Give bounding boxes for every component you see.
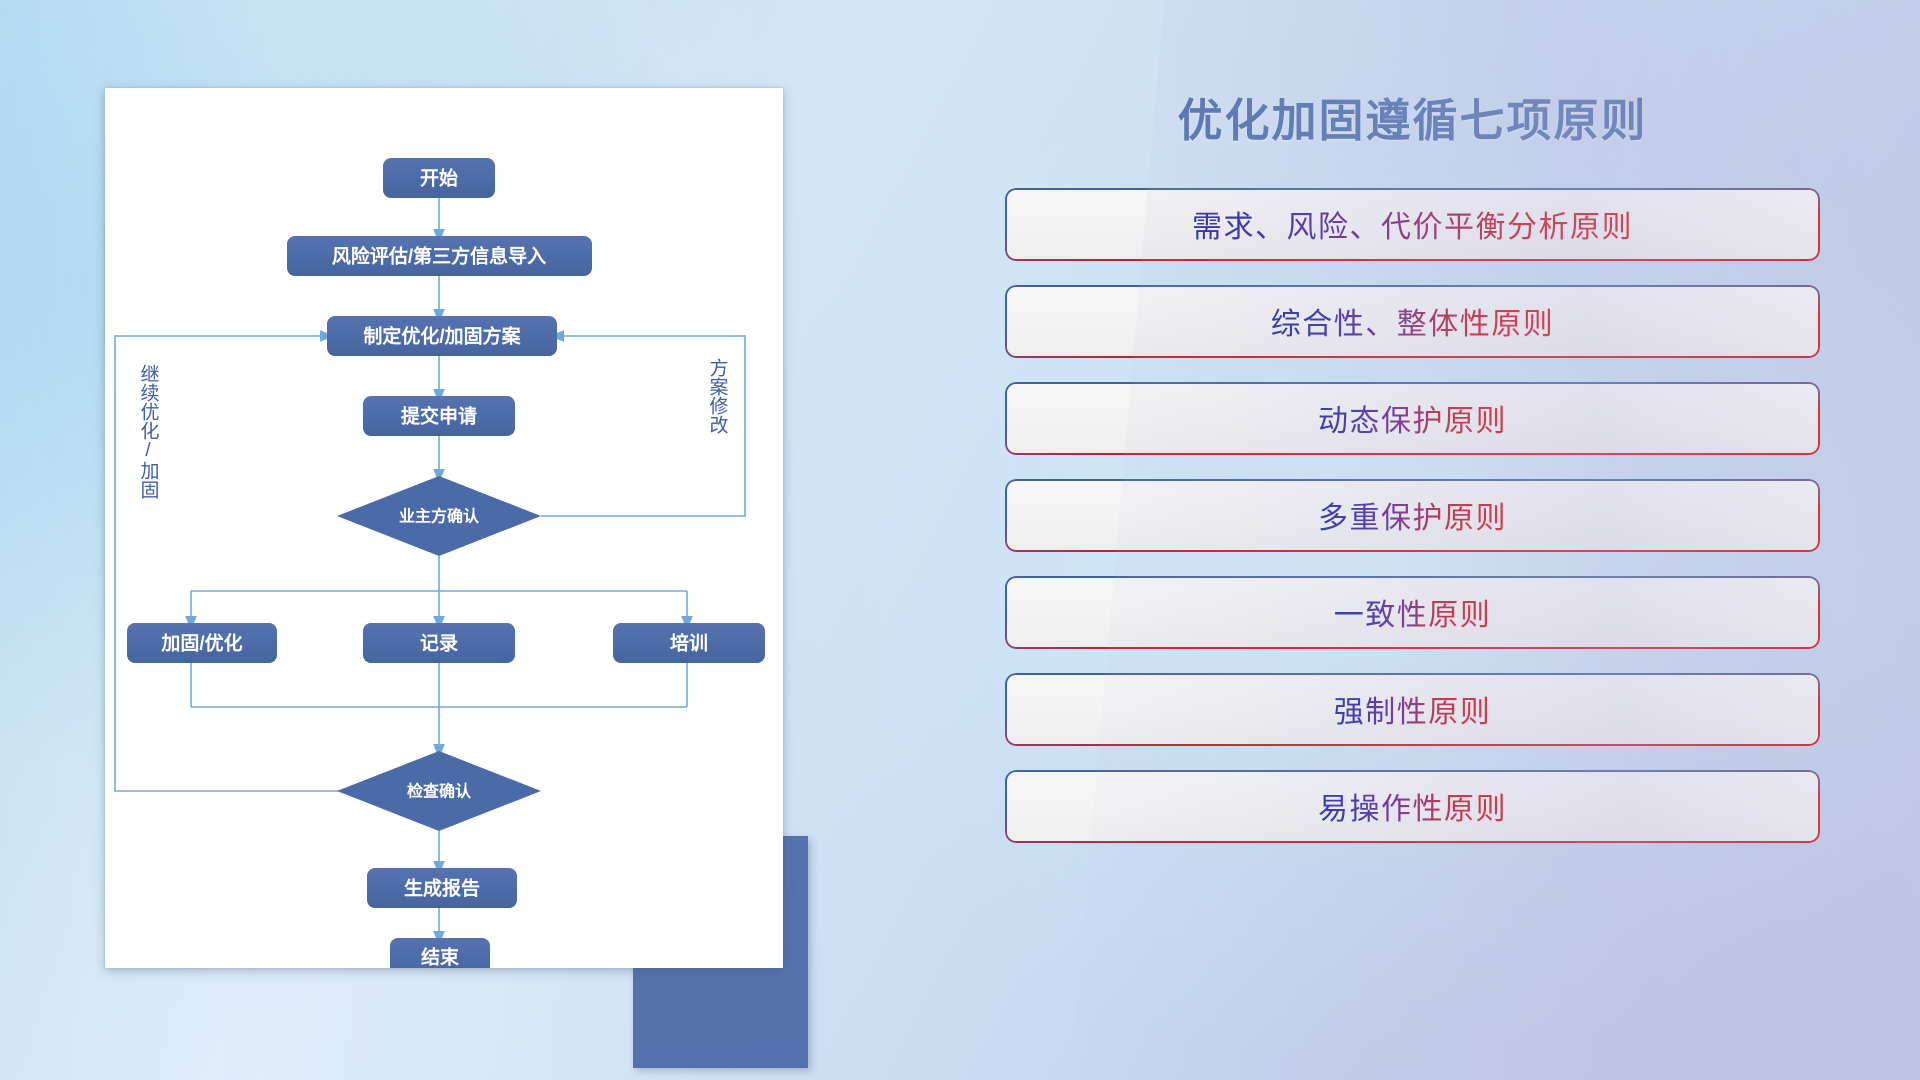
flow-node-label: 业主方确认 [399, 507, 480, 526]
flow-node-label: 制定优化/加固方案 [363, 325, 521, 348]
flowchart-panel: 开始 风险评估/第三方信息导入 制定优化/加固方案 提交申请 [105, 88, 785, 968]
flow-node-label: 提交申请 [401, 405, 477, 428]
flow-node-submit-application: 提交申请 [363, 396, 515, 436]
flow-node-check-confirmation: 检查确认 [337, 751, 541, 831]
principle-item[interactable]: 强制性原则 [1005, 673, 1820, 746]
flow-node-label: 检查确认 [407, 782, 472, 801]
flow-node-label: 生成报告 [404, 877, 480, 900]
flow-node-end: 结束 [390, 938, 490, 968]
panel-title: 优化加固遵循七项原则 [1005, 96, 1820, 146]
principle-item[interactable]: 多重保护原则 [1005, 479, 1820, 552]
principle-label: 强制性原则 [1334, 687, 1492, 731]
edge-label-right-loop: 方案修改 [707, 358, 729, 434]
slide-canvas: 开始 风险评估/第三方信息导入 制定优化/加固方案 提交申请 [0, 0, 1920, 1080]
principles-panel: 优化加固遵循七项原则 需求、风险、代价平衡分析原则 综合性、整体性原则 动态保护… [1005, 96, 1820, 1016]
flowchart-card: 开始 风险评估/第三方信息导入 制定优化/加固方案 提交申请 [105, 88, 783, 968]
flow-node-make-plan: 制定优化/加固方案 [327, 316, 557, 356]
flow-node-training: 培训 [613, 623, 765, 663]
principle-label: 需求、风险、代价平衡分析原则 [1192, 202, 1633, 246]
principle-label: 多重保护原则 [1318, 493, 1507, 537]
principle-item[interactable]: 一致性原则 [1005, 576, 1820, 649]
principle-label: 一致性原则 [1334, 590, 1492, 634]
principle-item[interactable]: 需求、风险、代价平衡分析原则 [1005, 188, 1820, 261]
flow-node-generate-report: 生成报告 [367, 868, 517, 908]
flowchart-diagram: 开始 风险评估/第三方信息导入 制定优化/加固方案 提交申请 [105, 88, 783, 968]
principle-label: 综合性、整体性原则 [1271, 299, 1555, 343]
flow-node-risk-assessment: 风险评估/第三方信息导入 [287, 236, 592, 276]
principle-label: 动态保护原则 [1318, 396, 1507, 440]
flow-node-reinforce-optimize: 加固/优化 [127, 623, 277, 663]
flow-node-label: 结束 [421, 946, 460, 969]
flow-node-label: 培训 [670, 632, 708, 655]
flow-node-owner-confirmation: 业主方确认 [337, 476, 541, 556]
principle-item[interactable]: 综合性、整体性原则 [1005, 285, 1820, 358]
principle-item[interactable]: 易操作性原则 [1005, 770, 1820, 843]
principle-label: 易操作性原则 [1318, 784, 1507, 828]
flow-node-label: 加固/优化 [160, 632, 242, 655]
principles-list: 需求、风险、代价平衡分析原则 综合性、整体性原则 动态保护原则 多重保护原则 一… [1005, 188, 1820, 843]
flow-node-label: 开始 [420, 167, 458, 190]
flow-node-label: 风险评估/第三方信息导入 [332, 245, 546, 268]
flow-node-start: 开始 [383, 158, 495, 198]
principle-item[interactable]: 动态保护原则 [1005, 382, 1820, 455]
flow-node-label: 记录 [420, 633, 458, 655]
flow-node-record: 记录 [363, 623, 515, 663]
edge-label-left-loop: 继续优化/加固 [138, 364, 160, 499]
